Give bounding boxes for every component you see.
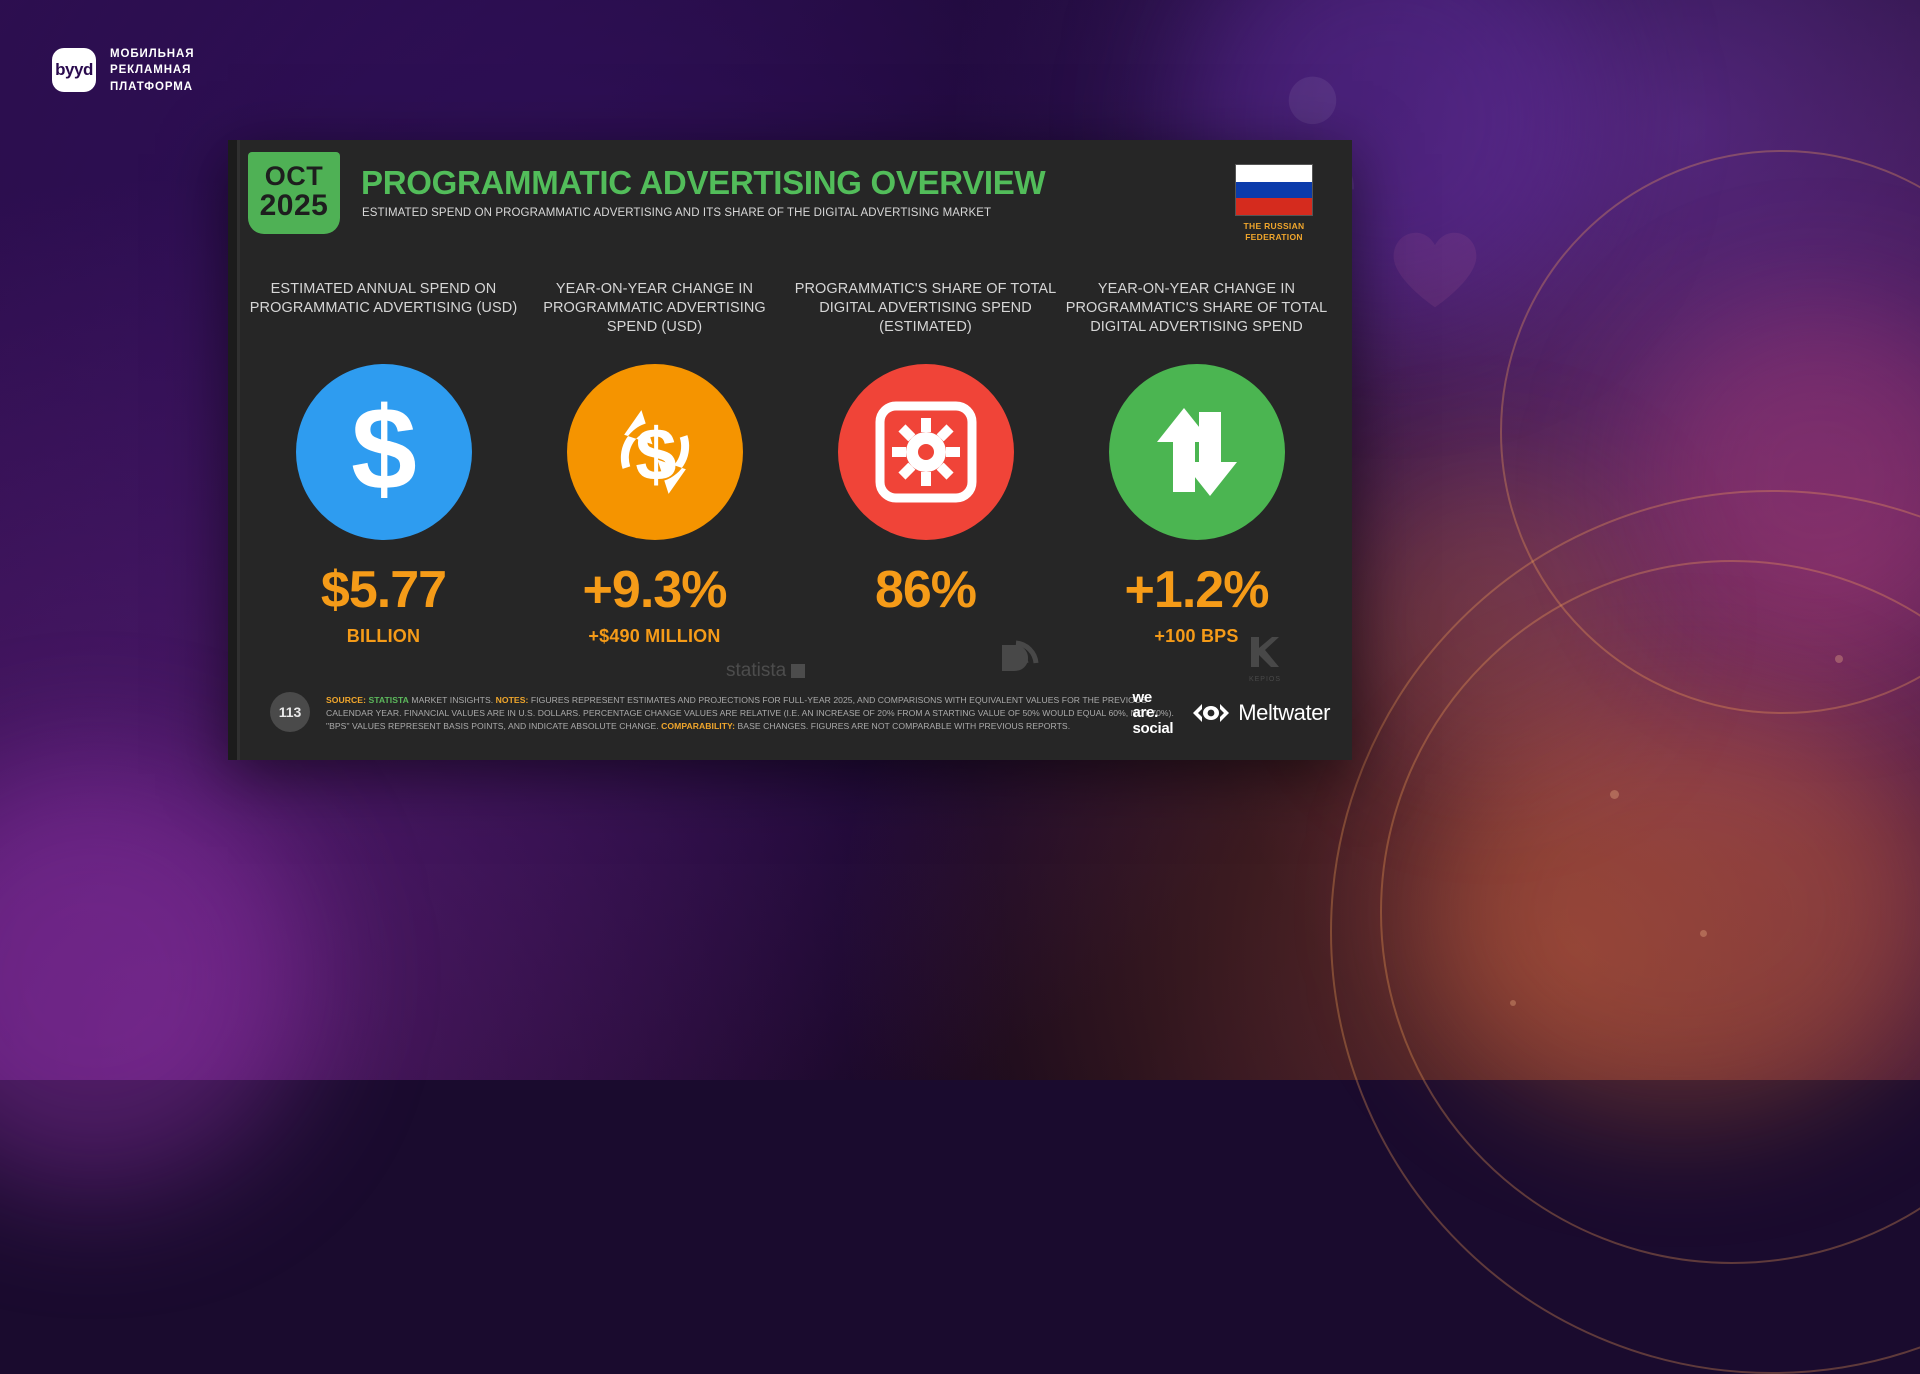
metric-value: 86% [875,564,976,616]
dollar-sign-icon: $ [296,364,472,540]
slide-left-rail [228,140,237,760]
metric-value: +1.2% [1125,564,1269,616]
country-label-line-2: FEDERATION [1232,232,1316,243]
bg-dot [1610,790,1619,799]
kepios-watermark: KEPIOS [1248,635,1282,683]
metric-column-yoy-spend-change: YEAR-ON-YEAR CHANGE IN PROGRAMMATIC ADVE… [519,280,790,647]
page-title: PROGRAMMATIC ADVERTISING OVERVIEW [361,164,1045,202]
country-label-line-1: THE RUSSIAN [1232,221,1316,232]
date-badge-year: 2025 [260,190,329,222]
russia-flag-icon [1235,164,1313,216]
page-subtitle: ESTIMATED SPEND ON PROGRAMMATIC ADVERTIS… [362,207,991,219]
byyd-logo-text: byyd [55,60,93,80]
brand-tagline-line-2: РЕКЛАМНАЯ [110,62,194,78]
slide-container: OCT 2025 PROGRAMMATIC ADVERTISING OVERVI… [228,140,1352,760]
metric-header: YEAR-ON-YEAR CHANGE IN PROGRAMMATIC'S SH… [1061,280,1332,342]
kepios-watermark-text: KEPIOS [1248,676,1282,683]
kepios-watermark-icon [1248,635,1282,669]
statista-watermark-text: statista [726,660,786,682]
footnote-source-label: SOURCE: [326,695,366,705]
metric-sublabel: BILLION [347,626,420,647]
metric-header: ESTIMATED ANNUAL SPEND ON PROGRAMMATIC A… [248,280,519,342]
datareportal-watermark-icon [998,635,1044,681]
bg-dot [1835,655,1843,663]
metric-sublabel: +$490 MILLION [588,626,720,647]
we-are-social-logo: we are. social [1133,690,1174,736]
metric-sublabel: +100 BPS [1154,626,1238,647]
we-are-social-line-3: social [1133,721,1174,736]
footnote-source-rest: MARKET INSIGHTS. [409,695,496,705]
footnote: SOURCE: STATISTA MARKET INSIGHTS. NOTES:… [326,694,1196,733]
statista-watermark-mark [791,664,805,678]
brand-logo: byyd МОБИЛЬНАЯ РЕКЛАМНАЯ ПЛАТФОРМА [52,46,194,95]
svg-text:$: $ [351,397,417,507]
meltwater-logo-text: Meltwater [1238,700,1330,726]
up-down-arrows-icon [1109,364,1285,540]
country-label: THE RUSSIAN FEDERATION [1232,221,1316,242]
heart-icon [1390,230,1480,310]
metric-column-programmatic-share: PROGRAMMATIC'S SHARE OF TOTAL DIGITAL AD… [790,280,1061,647]
footnote-source-name: STATISTA [368,695,409,705]
footnote-comparability-text: BASE CHANGES. FIGURES ARE NOT COMPARABLE… [735,721,1070,731]
metric-value: +9.3% [583,564,727,616]
svg-text:$: $ [635,413,676,496]
metric-column-yoy-share-change: YEAR-ON-YEAR CHANGE IN PROGRAMMATIC'S SH… [1061,280,1332,647]
meltwater-logo-icon [1191,702,1231,724]
meltwater-logo: Meltwater [1191,700,1330,726]
bg-glow-magenta [0,760,310,1190]
bg-dot [1700,930,1707,937]
metrics-row: ESTIMATED ANNUAL SPEND ON PROGRAMMATIC A… [248,280,1332,647]
page-number: 113 [270,692,310,732]
footnote-notes-label: NOTES: [496,695,529,705]
statista-watermark: statista [726,660,805,682]
country-block: THE RUSSIAN FEDERATION [1232,164,1316,242]
metric-header: PROGRAMMATIC'S SHARE OF TOTAL DIGITAL AD… [790,280,1061,342]
footnote-comparability-label: COMPARABILITY: [661,721,735,731]
footer-logos: we are. social Meltwater [1133,690,1331,736]
date-badge: OCT 2025 [248,152,340,234]
date-badge-month: OCT [265,164,324,190]
slide-footer: 113 SOURCE: STATISTA MARKET INSIGHTS. NO… [248,684,1336,748]
slide-left-rail-accent [237,140,240,760]
byyd-logo-mark: byyd [52,48,96,92]
metric-value: $5.77 [321,564,446,616]
brand-tagline-line-1: МОБИЛЬНАЯ [110,46,194,62]
dollar-refresh-icon: $ [567,364,743,540]
bg-dot [1510,1000,1516,1006]
slide-header: OCT 2025 PROGRAMMATIC ADVERTISING OVERVI… [248,152,1332,262]
brand-tagline-line-3: ПЛАТФОРМА [110,79,194,95]
metric-header: YEAR-ON-YEAR CHANGE IN PROGRAMMATIC ADVE… [519,280,790,342]
we-are-social-line-2: are. [1133,705,1174,720]
metric-column-annual-spend: ESTIMATED ANNUAL SPEND ON PROGRAMMATIC A… [248,280,519,647]
brand-tagline: МОБИЛЬНАЯ РЕКЛАМНАЯ ПЛАТФОРМА [110,46,194,95]
we-are-social-line-1: we [1133,690,1174,705]
gear-in-square-icon [838,364,1014,540]
